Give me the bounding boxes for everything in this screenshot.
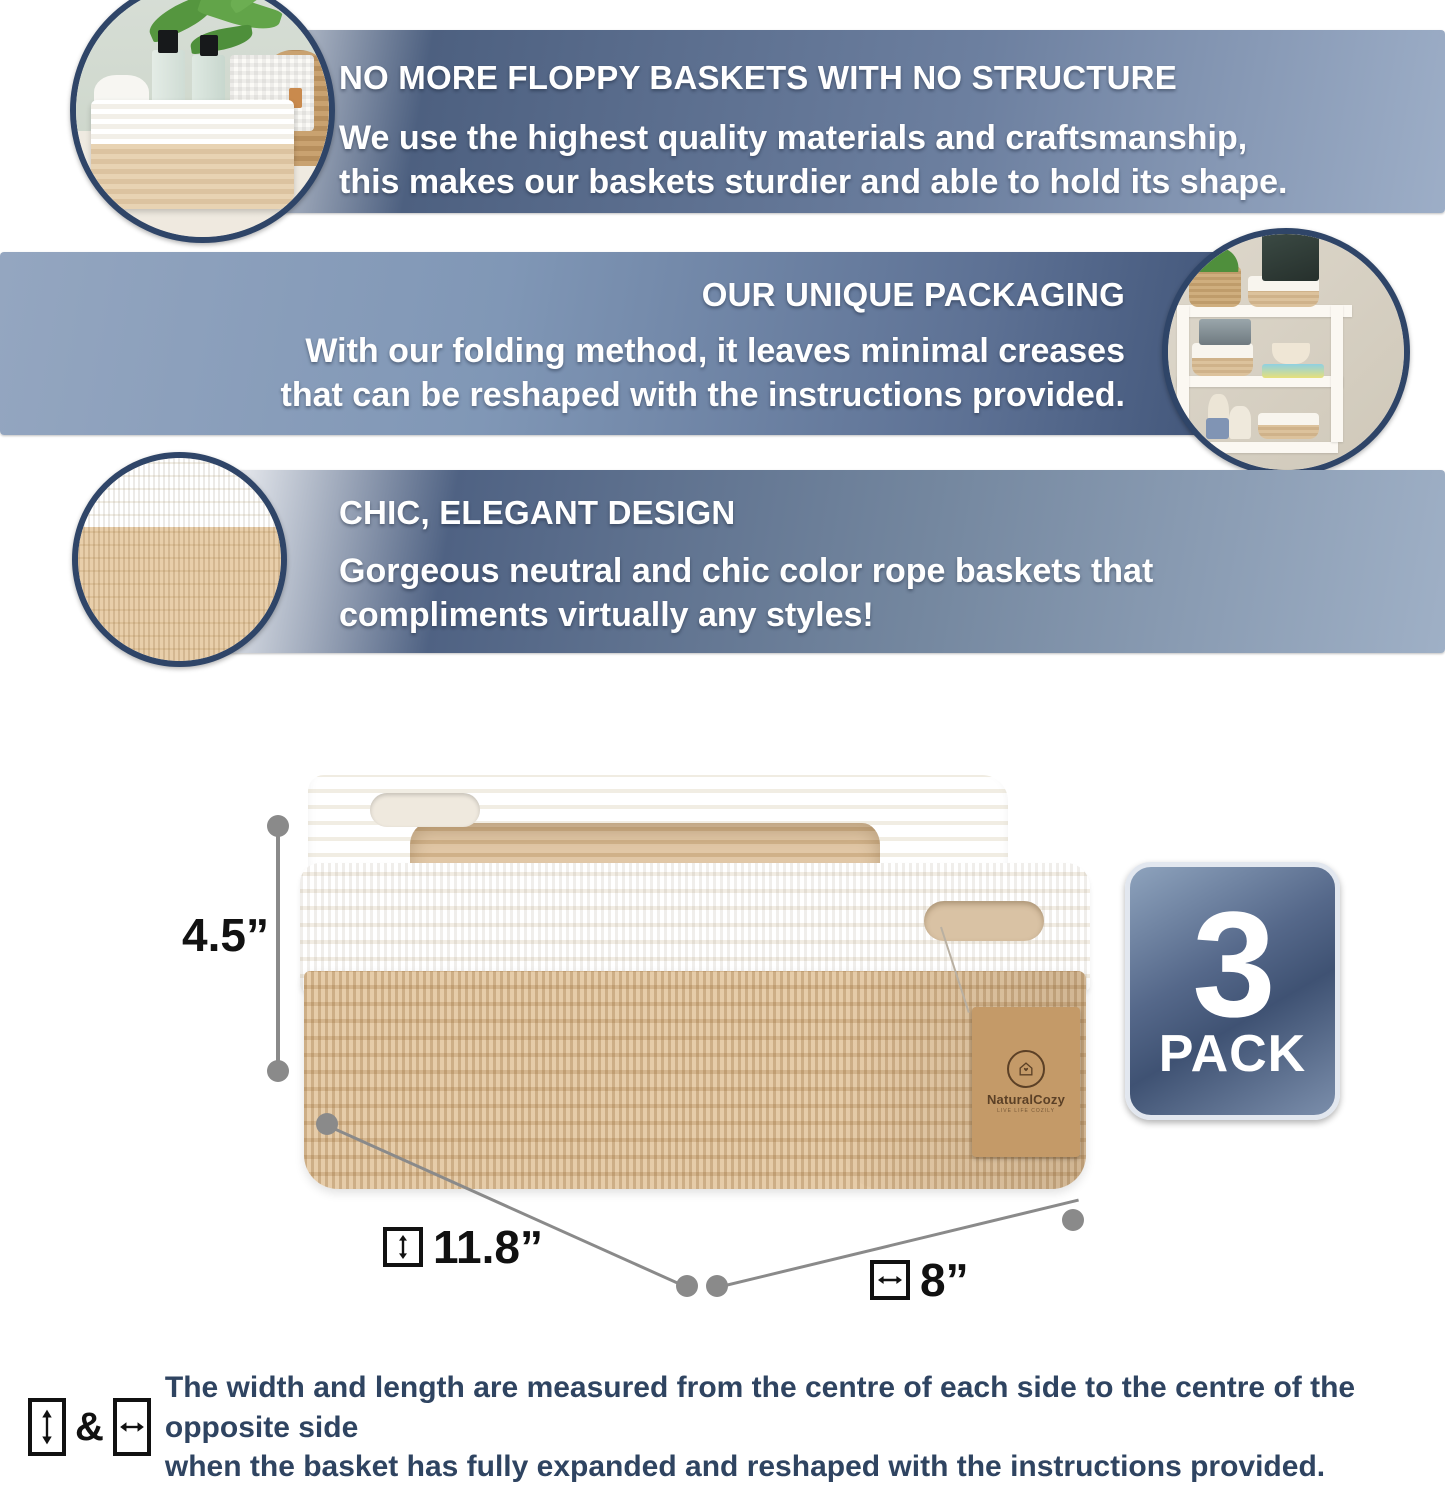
infographic-canvas: NO MORE FLOPPY BASKETS WITH NO STRUCTURE… bbox=[0, 0, 1445, 1432]
footnote-ampersand: & bbox=[75, 1405, 104, 1450]
rope-white-section bbox=[78, 458, 281, 527]
ceramic-vase-right bbox=[1229, 406, 1250, 439]
pack-count-word: PACK bbox=[1159, 1028, 1306, 1080]
length-dim-label-group: 11.8” bbox=[383, 1220, 543, 1274]
footnote-line-2: when the basket has fully expanded and r… bbox=[165, 1447, 1418, 1487]
length-dim-dot-inner bbox=[676, 1275, 698, 1297]
width-dim-value: 8” bbox=[920, 1253, 969, 1307]
plant-leaves bbox=[1182, 234, 1253, 272]
small-bowl bbox=[1272, 343, 1310, 364]
photo-packaging-inner bbox=[1168, 234, 1404, 470]
height-dim-dot-bottom bbox=[267, 1060, 289, 1082]
pack-count-badge: 3 PACK bbox=[1125, 862, 1340, 1120]
horizontal-arrow-icon bbox=[870, 1260, 910, 1300]
product-basket: NaturalCozy LIVE LIFE COZILY bbox=[300, 775, 1090, 1195]
length-dim-value: 11.8” bbox=[433, 1220, 543, 1274]
woven-plant-pot bbox=[1189, 267, 1241, 307]
feature-photo-structure bbox=[70, 0, 335, 243]
photo-structure-inner bbox=[76, 0, 329, 237]
footnote-icon-group: & bbox=[28, 1398, 151, 1456]
brand-hang-tag: NaturalCozy LIVE LIFE COZILY bbox=[972, 1007, 1080, 1157]
feature-body-packaging-line1: With our folding method, it leaves minim… bbox=[305, 330, 1125, 374]
shelf-basket-middle bbox=[1192, 343, 1253, 376]
feature-photo-packaging bbox=[1162, 228, 1410, 476]
basket-white-band bbox=[1258, 413, 1319, 425]
measurement-footnote: & The width and length are measured from… bbox=[28, 1368, 1418, 1487]
basket-tan-band bbox=[1258, 425, 1319, 439]
feature-banner-design: CHIC, ELEGANT DESIGN Gorgeous neutral an… bbox=[205, 470, 1445, 653]
blue-patterned-jug bbox=[1206, 418, 1230, 439]
magazines-stack bbox=[1199, 319, 1251, 345]
basket-white-band bbox=[91, 100, 293, 144]
shelf-bottom-panel bbox=[1177, 442, 1337, 454]
rope-tan-section bbox=[78, 527, 281, 661]
feature-title-design: CHIC, ELEGANT DESIGN bbox=[339, 496, 735, 529]
rope-basket-product bbox=[91, 100, 293, 209]
feature-photo-design bbox=[72, 452, 287, 667]
width-dim-label-group: 8” bbox=[870, 1253, 969, 1307]
height-dim-label: 4.5” bbox=[182, 908, 269, 962]
basket-tan-band bbox=[1192, 358, 1253, 376]
feature-banner-packaging: OUR UNIQUE PACKAGING With our folding me… bbox=[0, 252, 1245, 435]
height-dim-line bbox=[276, 826, 280, 1071]
feature-body-design-line1: Gorgeous neutral and chic color rope bas… bbox=[339, 550, 1153, 594]
vertical-arrow-icon bbox=[383, 1227, 423, 1267]
feature-body-structure-line1: We use the highest quality materials and… bbox=[339, 117, 1247, 161]
feature-body-design-line2: compliments virtually any styles! bbox=[339, 594, 874, 638]
framed-art bbox=[1262, 234, 1319, 281]
photo-design-inner bbox=[78, 458, 281, 661]
tag-brand-name: NaturalCozy bbox=[987, 1092, 1065, 1107]
footnote-text-block: The width and length are measured from t… bbox=[165, 1368, 1418, 1487]
basket-tan-band bbox=[91, 144, 293, 209]
basket-handle-left bbox=[370, 793, 480, 827]
pack-count-number: 3 bbox=[1192, 903, 1272, 1026]
shelf-side-panel bbox=[1177, 305, 1189, 451]
book-stack bbox=[1262, 364, 1323, 378]
basket-tan-band bbox=[1248, 291, 1319, 308]
tag-tagline: LIVE LIFE COZILY bbox=[997, 1108, 1055, 1114]
feature-banner-structure: NO MORE FLOPPY BASKETS WITH NO STRUCTURE… bbox=[205, 30, 1445, 213]
shelf-right-panel bbox=[1331, 305, 1343, 442]
natural-cozy-logo-icon bbox=[1007, 1050, 1045, 1088]
footnote-line-1: The width and length are measured from t… bbox=[165, 1368, 1418, 1447]
feature-title-structure: NO MORE FLOPPY BASKETS WITH NO STRUCTURE bbox=[339, 61, 1177, 94]
horizontal-arrow-icon bbox=[113, 1398, 151, 1456]
width-dim-dot-outer bbox=[1062, 1209, 1084, 1231]
feature-body-structure-line2: this makes our baskets sturdier and able… bbox=[339, 161, 1287, 205]
shelf-tray-bottom bbox=[1258, 413, 1319, 439]
shelf-basket-top bbox=[1248, 276, 1319, 307]
feature-title-packaging: OUR UNIQUE PACKAGING bbox=[702, 278, 1125, 311]
feature-body-packaging-line2: that can be reshaped with the instructio… bbox=[281, 374, 1125, 418]
vertical-arrow-icon bbox=[28, 1398, 66, 1456]
